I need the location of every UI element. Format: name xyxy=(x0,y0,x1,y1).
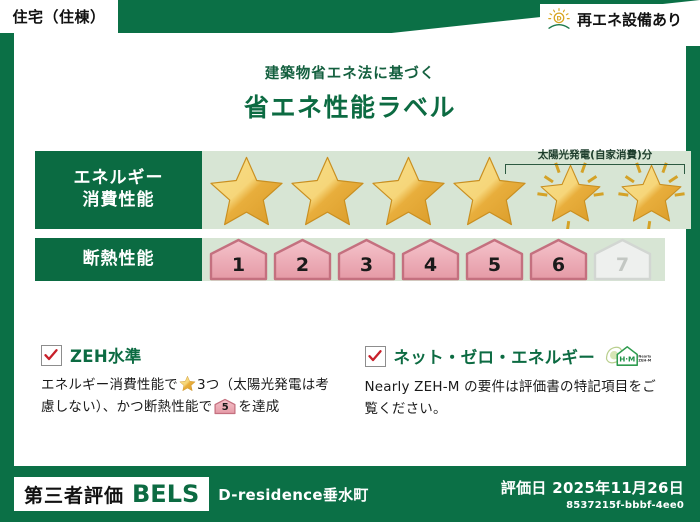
check-icon xyxy=(368,349,382,363)
zeh-text-part1: エネルギー消費性能で xyxy=(41,377,178,393)
bels-energy-label: 住宅（住棟） D 再エネ設備あり 建築物省エネ法に基づく 省エネ性能ラベル xyxy=(0,0,700,522)
house-step-2: 2 xyxy=(272,238,333,281)
label-title: 省エネ性能ラベル xyxy=(14,88,686,124)
zeh-m-logo-icon: H·M Nearly ZEH-M xyxy=(605,343,651,369)
energy-label-line1: エネルギー xyxy=(74,168,164,190)
energy-performance-row: エネルギー 消費性能 xyxy=(35,151,665,229)
energy-label-line2: 消費性能 xyxy=(83,190,155,212)
house-step-4-number: 4 xyxy=(400,254,461,276)
renewable-energy-badge: D 再エネ設備あり xyxy=(540,4,691,34)
house-step-6: 6 xyxy=(528,238,589,281)
house-step-6-number: 6 xyxy=(528,254,589,276)
check-icon xyxy=(44,348,58,362)
house-step-5-number: 5 xyxy=(464,254,525,276)
house-step-2-number: 2 xyxy=(272,254,333,276)
net-zero-title: ネット・ゼロ・エネルギー xyxy=(394,344,596,368)
energy-row-body: 太陽光発電(自家消費)分 xyxy=(202,151,691,229)
insulation-step-scale: 1 2 3 4 xyxy=(202,238,653,281)
insulation-performance-row: 断熱性能 1 2 3 xyxy=(35,238,665,281)
info-section: ZEH水準 エネルギー消費性能で3つ（太陽光発電は考慮しない）、かつ断熱性能で5… xyxy=(41,343,664,421)
star-icon-solar xyxy=(612,151,691,229)
bels-badge: 第三者評価 BELS xyxy=(14,477,209,511)
house-step-1-number: 1 xyxy=(208,254,269,276)
zeh-standard-text: エネルギー消費性能で3つ（太陽光発電は考慮しない）、かつ断熱性能で5を達成 xyxy=(41,375,341,419)
svg-text:ZEH-M: ZEH-M xyxy=(639,358,652,362)
star-icon-solar xyxy=(531,151,610,229)
evaluation-date: 評価日 2025年11月26日 xyxy=(501,477,684,498)
star-icon xyxy=(288,151,367,229)
house-step-1: 1 xyxy=(208,238,269,281)
inline-house-number: 5 xyxy=(214,401,236,415)
svg-text:D: D xyxy=(556,16,561,23)
zeh-standard-checkbox[interactable] xyxy=(41,345,62,366)
zeh-standard-title: ZEH水準 xyxy=(70,343,142,367)
star-icon xyxy=(369,151,448,229)
house-step-3: 3 xyxy=(336,238,397,281)
house-step-3-number: 3 xyxy=(336,254,397,276)
zeh-standard-header: ZEH水準 xyxy=(41,343,341,367)
inline-star-icon xyxy=(179,375,196,392)
net-zero-checkbox[interactable] xyxy=(365,346,386,367)
building-type-text: 住宅（住棟） xyxy=(12,6,105,27)
label-subtitle: 建築物省エネ法に基づく xyxy=(14,62,686,83)
footer-bar: 第三者評価 BELS D-residence垂水町 評価日 2025年11月26… xyxy=(0,466,700,522)
residence-name: D-residence垂水町 xyxy=(218,484,368,505)
svg-text:H·M: H·M xyxy=(619,354,635,363)
label-card: 建築物省エネ法に基づく 省エネ性能ラベル エネルギー 消費性能 xyxy=(14,33,686,466)
house-step-4: 4 xyxy=(400,238,461,281)
house-step-7: 7 xyxy=(592,238,653,281)
performance-rows: エネルギー 消費性能 xyxy=(35,151,665,290)
star-icon xyxy=(207,151,286,229)
house-step-5: 5 xyxy=(464,238,525,281)
inline-house-icon: 5 xyxy=(214,398,236,415)
bels-en-text: BELS xyxy=(132,480,199,508)
renewable-badge-text: 再エネ設備あり xyxy=(577,9,682,30)
evaluation-info: 評価日 2025年11月26日 8537215f-bbbf-4ee0 xyxy=(501,477,684,511)
bels-jp-text: 第三者評価 xyxy=(24,481,124,508)
energy-star-rating xyxy=(202,151,691,229)
insulation-label-text: 断熱性能 xyxy=(83,249,155,271)
zeh-standard-block: ZEH水準 エネルギー消費性能で3つ（太陽光発電は考慮しない）、かつ断熱性能で5… xyxy=(41,343,341,421)
net-zero-text: Nearly ZEH-M の要件は評価書の特記項目をご覧ください。 xyxy=(365,377,665,421)
building-type-tab: 住宅（住棟） xyxy=(0,0,118,33)
zeh-text-part3: を達成 xyxy=(238,399,279,415)
energy-row-label: エネルギー 消費性能 xyxy=(35,151,202,229)
net-zero-energy-block: ネット・ゼロ・エネルギー H·M Nearly ZEH-M Nearly ZEH… xyxy=(365,343,665,421)
star-icon xyxy=(450,151,529,229)
insulation-row-body: 1 2 3 4 xyxy=(202,238,665,281)
house-step-7-number: 7 xyxy=(592,254,653,276)
net-zero-header: ネット・ゼロ・エネルギー H·M Nearly ZEH-M xyxy=(365,343,665,369)
insulation-row-label: 断熱性能 xyxy=(35,238,202,281)
evaluation-id: 8537215f-bbbf-4ee0 xyxy=(501,500,684,511)
sun-icon: D xyxy=(546,7,572,31)
